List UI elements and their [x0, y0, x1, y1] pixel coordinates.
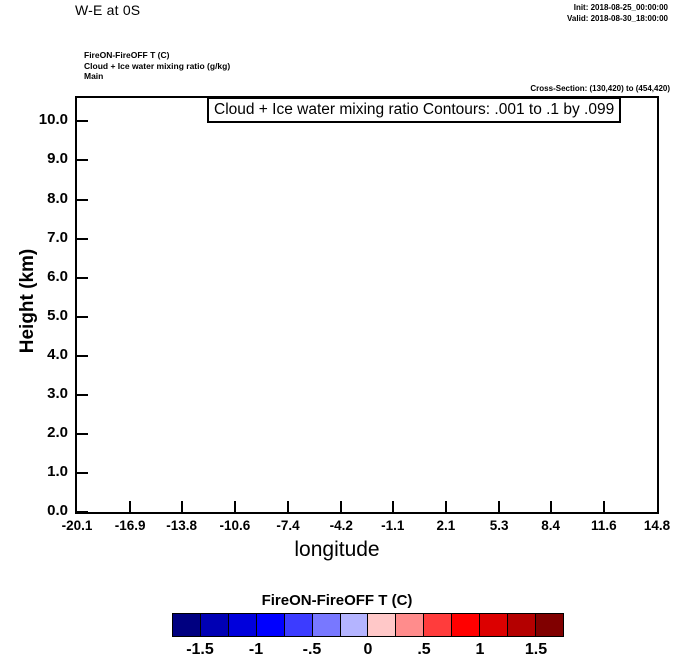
- x-tick-mark: [603, 501, 605, 512]
- y-tick-mark: [77, 120, 88, 122]
- plot-area: [75, 96, 659, 514]
- colorbar-tick-label: 1: [450, 641, 510, 659]
- x-tick-label: -13.8: [152, 518, 212, 533]
- y-tick-mark: [77, 394, 88, 396]
- field-line-3: Main: [84, 71, 230, 82]
- x-tick-mark: [287, 501, 289, 512]
- colorbar-swatch: [201, 614, 229, 636]
- colorbar-swatch: [257, 614, 285, 636]
- x-tick-mark: [392, 501, 394, 512]
- y-tick-mark: [77, 355, 88, 357]
- colorbar-tick-label: -.5: [282, 641, 342, 659]
- y-tick-label: 0.0: [2, 502, 68, 519]
- colorbar-swatch: [536, 614, 563, 636]
- page-title: W-E at 0S: [75, 2, 140, 18]
- colorbar-tick-label: -1: [226, 641, 286, 659]
- x-tick-label: 8.4: [521, 518, 581, 533]
- x-axis-ticks: -20.1-16.9-13.8-10.6-7.4-4.2-1.12.15.38.…: [0, 518, 674, 538]
- y-tick-mark: [77, 472, 88, 474]
- colorbar-swatch: [173, 614, 201, 636]
- y-tick-label: 10.0: [2, 111, 68, 128]
- cross-section-label: Cross-Section: (130,420) to (454,420): [530, 84, 670, 93]
- y-tick-mark: [77, 316, 88, 318]
- y-tick-mark: [77, 433, 88, 435]
- y-tick-label: 1.0: [2, 463, 68, 480]
- x-tick-label: -20.1: [47, 518, 107, 533]
- x-tick-label: -7.4: [258, 518, 318, 533]
- colorbar-tick-label: 0: [338, 641, 398, 659]
- x-tick-label: -1.1: [363, 518, 423, 533]
- x-tick-label: 11.6: [574, 518, 634, 533]
- field-line-2: Cloud + Ice water mixing ratio (g/kg): [84, 61, 230, 72]
- y-tick-mark: [77, 199, 88, 201]
- x-tick-mark: [234, 501, 236, 512]
- colorbar-swatch: [341, 614, 369, 636]
- x-tick-label: -10.6: [205, 518, 265, 533]
- x-tick-mark: [340, 501, 342, 512]
- colorbar-tick-label: 1.5: [506, 641, 566, 659]
- colorbar-swatch: [508, 614, 536, 636]
- colorbar-title: FireON-FireOFF T (C): [0, 592, 674, 609]
- field-description-block: FireON-FireOFF T (C) Cloud + Ice water m…: [84, 50, 230, 82]
- x-tick-mark: [550, 501, 552, 512]
- colorbar-tick-labels: -1.5-1-.50.511.5: [0, 641, 674, 663]
- colorbar-swatch: [368, 614, 396, 636]
- x-tick-label: 14.8: [627, 518, 674, 533]
- field-line-1: FireON-FireOFF T (C): [84, 50, 230, 61]
- x-axis-title: longitude: [0, 538, 674, 562]
- temperature-difference-field: [77, 98, 657, 512]
- colorbar-tick-label: -1.5: [170, 641, 230, 659]
- colorbar-swatch: [396, 614, 424, 636]
- y-tick-label: 2.0: [2, 424, 68, 441]
- y-tick-mark: [77, 511, 88, 513]
- colorbar: [172, 613, 564, 637]
- y-axis-title: Height (km): [17, 221, 39, 381]
- x-tick-mark: [498, 501, 500, 512]
- y-tick-mark: [77, 159, 88, 161]
- x-tick-mark: [181, 501, 183, 512]
- colorbar-swatch: [229, 614, 257, 636]
- y-tick-mark: [77, 238, 88, 240]
- x-tick-label: 2.1: [416, 518, 476, 533]
- colorbar-swatch: [480, 614, 508, 636]
- valid-time-label: Valid: 2018-08-30_18:00:00: [567, 14, 668, 23]
- colorbar-swatch: [313, 614, 341, 636]
- colorbar-swatch: [452, 614, 480, 636]
- colorbar-swatch: [285, 614, 313, 636]
- y-tick-label: 9.0: [2, 150, 68, 167]
- x-tick-mark: [129, 501, 131, 512]
- y-tick-label: 8.0: [2, 190, 68, 207]
- colorbar-swatch: [424, 614, 452, 636]
- colorbar-tick-label: .5: [394, 641, 454, 659]
- y-tick-label: 3.0: [2, 385, 68, 402]
- init-time-label: Init: 2018-08-25_00:00:00: [574, 3, 668, 12]
- contour-info-banner: Cloud + Ice water mixing ratio Contours:…: [207, 97, 621, 123]
- y-tick-mark: [77, 277, 88, 279]
- x-tick-mark: [445, 501, 447, 512]
